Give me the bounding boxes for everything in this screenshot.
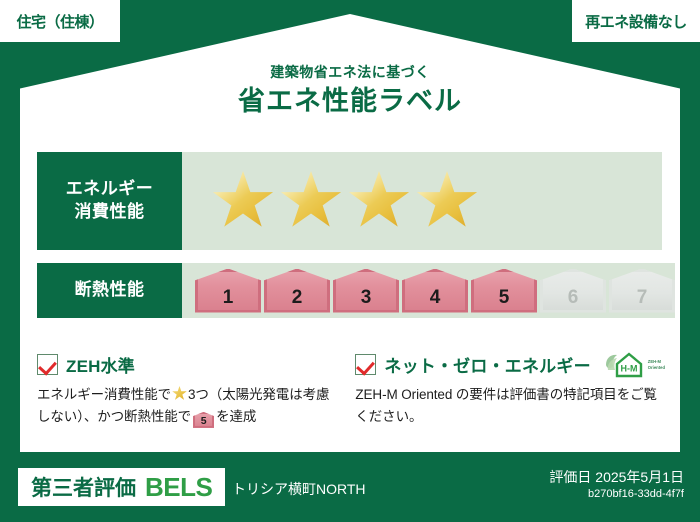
grade-badge-6: 6	[540, 269, 606, 313]
renewable-equipment-tag-label: 再エネ設備なし	[585, 11, 687, 32]
energy-star-rating	[182, 152, 662, 250]
zeh-standard-description: エネルギー消費性能で3つ（太陽光発電は考慮しない）、かつ断熱性能で5を達成	[37, 384, 335, 428]
grade-badge-7: 7	[609, 269, 675, 313]
checkmark-icon	[37, 354, 58, 375]
building-type-tag: 住宅（住棟）	[0, 0, 120, 42]
grade-badge-5: 5	[471, 269, 537, 313]
inline-grade-badge: 5	[193, 412, 214, 428]
insulation-grade-scale: 1 2 3 4 5 6 7	[182, 263, 675, 318]
grade-badge-1: 1	[195, 269, 261, 313]
evaluation-meta: 評価日 2025年5月1日 b270bf16-33dd-4f7f	[549, 468, 684, 503]
energy-performance-label: 住宅（住棟） 再エネ設備なし 建築物省エネ法に基づく 省エネ性能ラベル エネルギ…	[0, 0, 700, 522]
evaluation-date: 評価日 2025年5月1日	[549, 468, 684, 486]
zeh-m-logo-text: H-M	[620, 363, 637, 373]
zeh-standard-title: ZEH水準	[66, 352, 135, 377]
zeh-m-caption-line-1: ZEH-M	[648, 359, 661, 364]
page-title: 省エネ性能ラベル	[0, 83, 700, 119]
label-heading: 建築物省エネ法に基づく 省エネ性能ラベル	[0, 64, 700, 119]
zeh-standard-column: ZEH水準 エネルギー消費性能で3つ（太陽光発電は考慮しない）、かつ断熱性能で5…	[37, 352, 335, 444]
zeh-m-oriented-logo: H-M ZEH-M Oriented	[604, 352, 665, 378]
net-zero-energy-title: ネット・ゼロ・エネルギー	[384, 352, 590, 377]
third-party-evaluation-label: 第三者評価	[31, 472, 136, 502]
grade-badge-2: 2	[264, 269, 330, 313]
zeh-m-logo-caption: ZEH-M Oriented	[648, 359, 665, 370]
star-icon	[416, 171, 478, 231]
project-name: トリシア横町NORTH	[232, 479, 366, 499]
bels-logo-text: BELS	[145, 472, 212, 503]
heading-subtitle: 建築物省エネ法に基づく	[0, 64, 700, 81]
bels-certification-plate: 第三者評価 BELS	[18, 468, 225, 506]
label-footer: 第三者評価 BELS トリシア横町NORTH 評価日 2025年5月1日 b27…	[0, 452, 700, 522]
renewable-equipment-tag: 再エネ設備なし	[572, 0, 700, 42]
criteria-columns: ZEH水準 エネルギー消費性能で3つ（太陽光発電は考慮しない）、かつ断熱性能で5…	[37, 352, 665, 444]
net-zero-energy-description: ZEH-M Oriented の要件は評価書の特記項目をご覧ください。	[355, 384, 665, 428]
star-icon	[280, 171, 342, 231]
zeh-description-part-1: エネルギー消費性能で	[37, 387, 171, 402]
grade-badge-3: 3	[333, 269, 399, 313]
star-icon	[348, 171, 410, 231]
insulation-performance-row: 断熱性能 1 2 3 4 5 6 7	[37, 263, 662, 318]
building-type-tag-label: 住宅（住棟）	[16, 11, 103, 32]
checkmark-icon	[355, 354, 376, 375]
grade-badge-4: 4	[402, 269, 468, 313]
zeh-description-part-3: を達成	[216, 409, 256, 424]
net-zero-energy-header: ネット・ゼロ・エネルギー H-M ZEH-M Oriented	[355, 352, 665, 377]
energy-performance-row: エネルギー 消費性能	[37, 152, 662, 250]
evaluation-id: b270bf16-33dd-4f7f	[549, 487, 684, 502]
energy-performance-label-key: エネルギー 消費性能	[37, 152, 182, 250]
inline-star-icon	[172, 386, 187, 401]
net-zero-energy-column: ネット・ゼロ・エネルギー H-M ZEH-M Oriented	[355, 352, 665, 444]
insulation-performance-label-key: 断熱性能	[37, 263, 182, 318]
energy-key-line-1: エネルギー	[66, 178, 154, 201]
insulation-key-text: 断熱性能	[75, 279, 145, 302]
energy-key-line-2: 消費性能	[66, 201, 154, 224]
zeh-m-caption-line-2: Oriented	[648, 365, 665, 370]
zeh-standard-header: ZEH水準	[37, 352, 335, 377]
star-icon	[212, 171, 274, 231]
